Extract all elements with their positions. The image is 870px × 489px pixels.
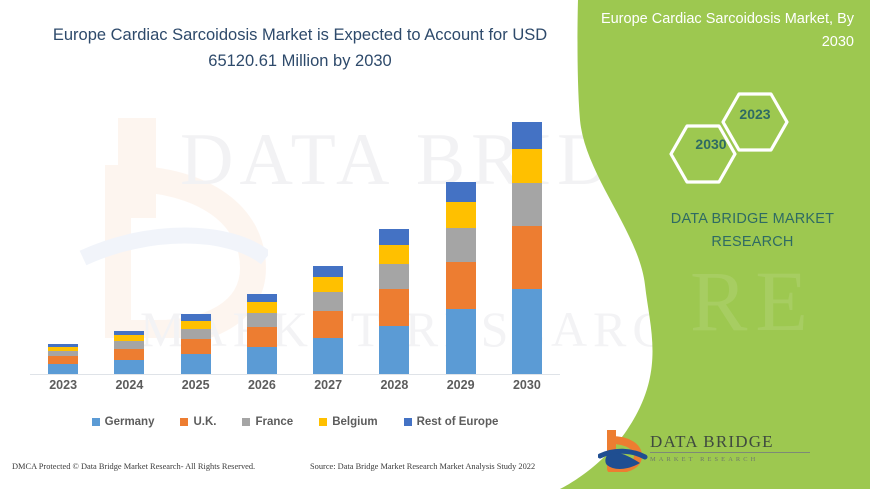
legend-label: Germany [105,416,155,428]
page-title: Europe Cardiac Sarcoidosis Market is Exp… [40,22,560,74]
bar-segment-france [114,341,144,349]
legend-item-france[interactable]: France [242,416,293,428]
infographic-canvas: DATA BRIDGE MARKET RESEARCH Europe Cardi… [0,0,870,489]
bar-segment-belgium [379,245,409,265]
bar-segment-u-k [247,327,277,347]
x-tick-label-2028: 2028 [364,378,424,392]
stacked-bar-chart [30,110,560,375]
bar-segment-france [446,228,476,261]
data-bridge-logo-mark-icon [598,428,648,472]
bar-segment-germany [446,309,476,374]
bar-segment-u-k [512,226,542,288]
x-tick-label-2025: 2025 [166,378,226,392]
logo-subtitle-text: MARKET RESEARCH [650,452,810,465]
footer: DMCA Protected © Data Bridge Market Rese… [0,456,580,486]
bar-segment-belgium [247,302,277,313]
bar-segment-germany [48,364,78,374]
x-tick-label-2030: 2030 [497,378,557,392]
logo-name-text: DATA BRIDGE [650,432,840,452]
bar-segment-france [379,264,409,289]
bar-segment-germany [181,354,211,374]
hexagon-2023-label: 2023 [717,106,793,122]
bar-segment-belgium [181,321,211,329]
bar-segment-rest-of-europe [512,122,542,149]
legend-swatch-icon [180,418,188,426]
x-tick-label-2023: 2023 [33,378,93,392]
bar-segment-u-k [379,289,409,325]
bar-segment-france [247,313,277,327]
x-tick-label-2026: 2026 [232,378,292,392]
panel-brand-text: DATA BRIDGE MARKET RESEARCH [640,208,865,254]
bar-segment-germany [379,326,409,374]
legend-item-u-k[interactable]: U.K. [180,416,216,428]
hexagon-2030-shape [671,126,735,182]
bar-segment-u-k [313,311,343,338]
legend-swatch-icon [242,418,250,426]
bar-2025 [181,314,211,374]
bar-2023 [48,344,78,374]
bar-2029 [446,182,476,374]
bar-segment-germany [512,289,542,374]
chart-legend: GermanyU.K.FranceBelgiumRest of Europe [30,416,560,428]
hexagon-2030-label: 2030 [673,136,749,152]
bar-segment-u-k [114,349,144,360]
legend-swatch-icon [404,418,412,426]
bar-segment-belgium [446,202,476,228]
legend-item-belgium[interactable]: Belgium [319,416,377,428]
legend-label: U.K. [193,416,216,428]
chart-plot-area [30,113,560,375]
data-bridge-logo: DATA BRIDGE MARKET RESEARCH [598,428,848,474]
footer-source-text: Source: Data Bridge Market Research Mark… [310,462,535,471]
bar-segment-u-k [48,356,78,364]
bar-segment-rest-of-europe [379,229,409,244]
bar-segment-france [181,329,211,340]
legend-item-rest-of-europe[interactable]: Rest of Europe [404,416,499,428]
legend-label: France [255,416,293,428]
bar-segment-france [313,292,343,311]
x-axis-tick-labels: 20232024202520262027202820292030 [30,378,560,400]
x-tick-label-2024: 2024 [99,378,159,392]
logo-wordmark: DATA BRIDGE MARKET RESEARCH [650,432,840,465]
legend-swatch-icon [319,418,327,426]
bar-segment-germany [313,338,343,374]
panel-title: Europe Cardiac Sarcoidosis Market, By 20… [574,8,854,54]
bar-2026 [247,294,277,374]
legend-item-germany[interactable]: Germany [92,416,155,428]
bar-segment-rest-of-europe [446,182,476,202]
x-tick-label-2029: 2029 [431,378,491,392]
bar-segment-belgium [313,277,343,292]
bar-segment-belgium [512,149,542,183]
bar-segment-rest-of-europe [313,266,343,278]
bar-2028 [379,229,409,374]
x-axis-line [30,374,560,375]
legend-label: Rest of Europe [417,416,499,428]
hexagon-badges: 2023 2030 [665,92,790,192]
legend-label: Belgium [332,416,377,428]
bar-segment-rest-of-europe [247,294,277,302]
bar-2030 [512,122,542,374]
legend-swatch-icon [92,418,100,426]
bar-2024 [114,330,144,374]
bar-segment-france [512,183,542,227]
bar-segment-germany [114,360,144,374]
bar-segment-germany [247,347,277,374]
x-tick-label-2027: 2027 [298,378,358,392]
bar-segment-u-k [446,262,476,310]
footer-dmca-text: DMCA Protected © Data Bridge Market Rese… [12,462,255,471]
bar-2027 [313,266,343,374]
bar-segment-u-k [181,339,211,354]
